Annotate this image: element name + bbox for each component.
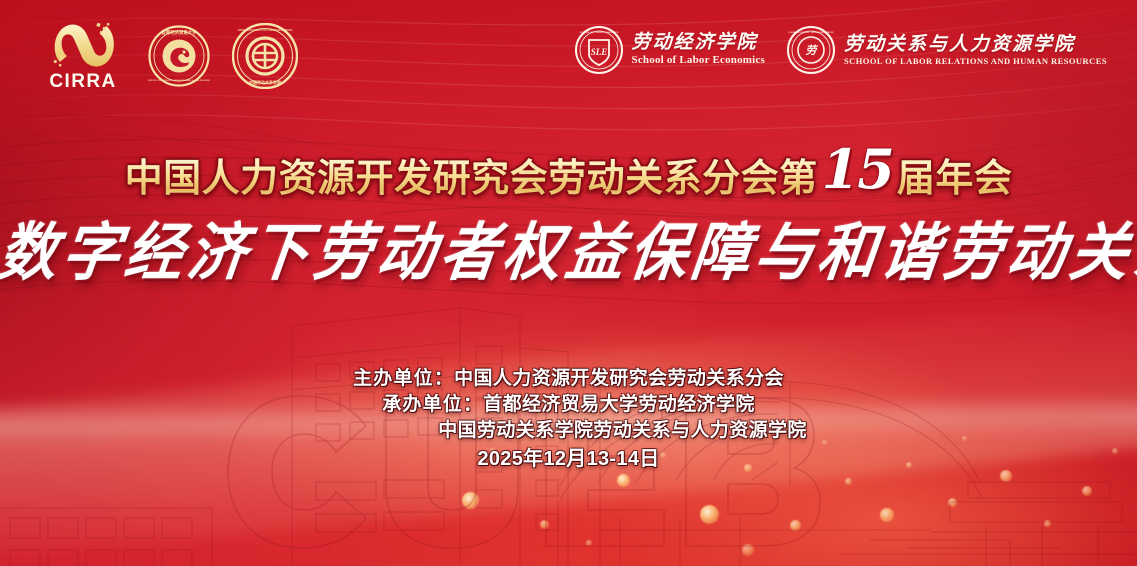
sle-name-block: 劳动经济学院 School of Labor Economics <box>632 33 765 66</box>
conference-theme-subtitle: 数字经济下劳动者权益保障与和谐劳动关系构建 <box>0 202 1137 293</box>
school-of-labor-relations-logo[interactable]: 劳 LABOR RELATIONS · HUMAN RESOURCES 劳动关系… <box>787 26 1107 74</box>
title-suffix: 届年会 <box>897 147 1013 202</box>
organizer-block: 主办单位：中国人力资源开发研究会劳动关系分会 承办单位：首都经济贸易大学劳动经济… <box>0 366 1137 474</box>
svg-text:SCHOOL OF LABOR ECONOMICS: SCHOOL OF LABOR ECONOMICS <box>579 31 618 34</box>
host-line: 主办单位：中国人力资源开发研究会劳动关系分会 <box>0 366 1137 392</box>
coorganizer-label: 承办单位： <box>382 394 483 415</box>
host-label: 主办单位： <box>353 368 454 389</box>
cirra-logo[interactable]: CIRRA <box>40 18 126 93</box>
sle-name-en: School of Labor Economics <box>632 55 765 67</box>
coorganizer-line-2: 中国劳动关系学院劳动关系与人力资源学院 <box>0 418 1137 444</box>
title-edition-number: 15 <box>818 137 897 201</box>
svg-text:中国劳动关系学院: 中国劳动关系学院 <box>249 79 281 85</box>
conference-date: 2025年12月13-14日 <box>0 444 1137 474</box>
slrhr-name-en: SCHOOL OF LABOR RELATIONS AND HUMAN RESO… <box>844 57 1107 66</box>
svg-text:CAPITAL UNIVERSITY OF ECONOMIC: CAPITAL UNIVERSITY OF ECONOMICS AND BUSI… <box>148 79 210 82</box>
coorganizer-value-1: 首都经济贸易大学劳动经济学院 <box>483 394 755 415</box>
slrhr-circular-badge-icon: 劳 LABOR RELATIONS · HUMAN RESOURCES <box>787 26 835 74</box>
right-logo-group: SLE SCHOOL OF LABOR ECONOMICS 劳动经济学院 Sch… <box>575 26 1107 74</box>
svg-text:首都经济贸易大学: 首都经济贸易大学 <box>161 29 197 36</box>
conference-title: 中国人力资源开发研究会劳动关系分会第 15 届年会 <box>0 142 1137 206</box>
left-logo-group: CIRRA 首都经济贸易大学 CAPITAL UNIVERSITY OF ECO… <box>40 18 298 93</box>
culr-circular-seal-icon[interactable]: CHINA UNIVERSITY OF LABOR RELATIONS 中国劳动… <box>232 23 298 89</box>
coorganizer-line-1: 承办单位：首都经济贸易大学劳动经济学院 <box>0 392 1137 418</box>
svg-text:劳: 劳 <box>805 44 818 57</box>
cirra-ribbon-icon <box>50 18 116 70</box>
slrhr-name-cn: 劳动关系与人力资源学院 <box>844 35 1107 55</box>
coorganizer-value-2: 中国劳动关系学院劳动关系与人力资源学院 <box>438 420 807 441</box>
slrhr-name-block: 劳动关系与人力资源学院 SCHOOL OF LABOR RELATIONS AN… <box>844 35 1107 66</box>
cirra-wordmark: CIRRA <box>49 71 116 93</box>
title-prefix: 中国人力资源开发研究会劳动关系分会第 <box>125 147 818 202</box>
svg-text:CHINA UNIVERSITY OF LABOR RELA: CHINA UNIVERSITY OF LABOR RELATIONS <box>237 29 293 32</box>
host-value: 中国人力资源开发研究会劳动关系分会 <box>454 368 784 389</box>
sle-shield-badge-icon: SLE SCHOOL OF LABOR ECONOMICS <box>575 26 623 74</box>
school-of-labor-economics-logo[interactable]: SLE SCHOOL OF LABOR ECONOMICS 劳动经济学院 Sch… <box>575 26 765 74</box>
svg-text:LABOR RELATIONS · HUMAN RESOUR: LABOR RELATIONS · HUMAN RESOURCES <box>788 31 834 34</box>
sle-name-cn: 劳动经济学院 <box>632 33 765 53</box>
conference-banner: CIRRA 首都经济贸易大学 CAPITAL UNIVERSITY OF ECO… <box>0 0 1137 566</box>
cueb-circular-seal-icon[interactable]: 首都经济贸易大学 CAPITAL UNIVERSITY OF ECONOMICS… <box>148 25 210 87</box>
svg-text:SLE: SLE <box>590 47 607 57</box>
